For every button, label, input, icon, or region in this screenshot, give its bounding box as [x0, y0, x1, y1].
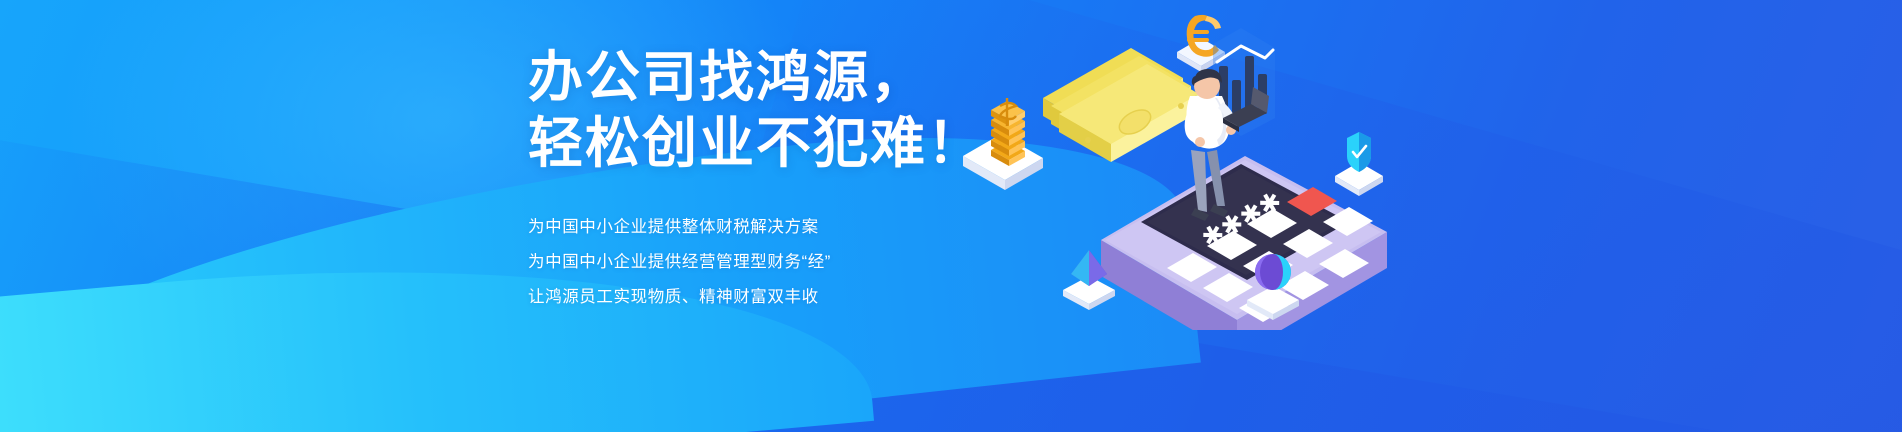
banknotes-icon [1043, 48, 1199, 162]
subtitle-line-1: 为中国中小企业提供整体财税解决方案 [528, 210, 998, 245]
finance-illustration: ✱✱✱✱ [955, 0, 1425, 330]
subtitle-line-3: 让鸿源员工实现物质、精神财富双丰收 [528, 280, 998, 315]
subtitle-list: 为中国中小企业提供整体财税解决方案 为中国中小企业提供经营管理型财务“经” 让鸿… [528, 210, 998, 315]
shield-badge-icon [1335, 132, 1383, 196]
headline-line-2: 轻松创业不犯难！ [528, 110, 998, 176]
subtitle-line-2: 为中国中小企业提供经营管理型财务“经” [528, 245, 998, 280]
headline-line-1: 办公司找鸿源， [528, 44, 998, 110]
hero-banner: 办公司找鸿源， 轻松创业不犯难！ 为中国中小企业提供整体财税解决方案 为中国中小… [0, 0, 1902, 432]
banner-copy: 办公司找鸿源， 轻松创业不犯难！ 为中国中小企业提供整体财税解决方案 为中国中小… [528, 44, 998, 315]
